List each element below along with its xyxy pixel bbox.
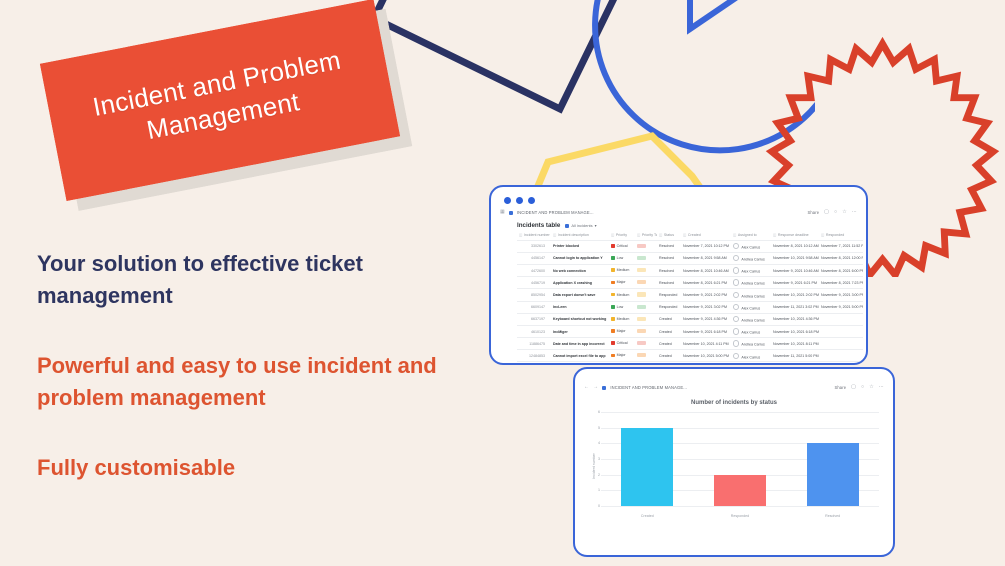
blue-pie-shape xyxy=(565,0,815,154)
cell-incident-number: 3302613 xyxy=(517,240,551,252)
cell-incident-number: 4456719 xyxy=(517,277,551,289)
cell-deadline: November 9, 2021 6:21 PM xyxy=(771,277,819,289)
new-row-button[interactable]: + New xyxy=(517,364,866,365)
y-axis-tick: 1 xyxy=(598,488,600,492)
window-controls xyxy=(504,197,535,204)
cell-created: November 9, 2021 4:36 PM xyxy=(681,313,731,325)
y-axis-tick: 2 xyxy=(598,473,600,477)
star-icon[interactable]: ☆ xyxy=(842,210,847,215)
bar-column xyxy=(714,412,766,506)
star-icon[interactable]: ☆ xyxy=(869,385,874,390)
window-dot xyxy=(504,197,511,204)
cell-created: November 10, 2021 4:11 PM xyxy=(681,338,731,350)
cell-assignee: Andrea Carrus xyxy=(731,252,771,264)
column-type-icon: ◫ xyxy=(659,233,662,237)
cell-responded xyxy=(819,350,863,362)
avatar xyxy=(733,353,739,359)
cell-description: No web connection xyxy=(551,264,609,276)
cell-priority: Major xyxy=(609,350,635,362)
incidents-table: ◫Incident number◫Incident description◫Pr… xyxy=(517,231,863,362)
incidents-chart-window[interactable]: ← → INCIDENT AND PROBLEM MANAGE... Share… xyxy=(573,367,895,557)
table-column-header[interactable]: ◫Response deadline xyxy=(771,231,819,240)
cell-status: Resolved xyxy=(657,264,681,276)
cell-status: Created xyxy=(657,313,681,325)
cell-description: Keyboard shortcut not working xyxy=(551,313,609,325)
table-heading-row: Incidents table All incidents ▾ xyxy=(491,219,866,231)
ticket-body: Incident and Problem Management xyxy=(40,0,400,201)
table-row[interactable]: 8502954Data export doesn't saveMediumRes… xyxy=(517,289,863,301)
cell-responded: November 8, 2021 12:00 PM xyxy=(819,252,863,264)
cell-assignee: Andrea Carrus xyxy=(731,289,771,301)
chart-title: Number of incidents by status xyxy=(575,400,893,406)
table-row[interactable]: 4456147Cannot login to application YLowR… xyxy=(517,252,863,264)
table-column-header[interactable]: ◫Created xyxy=(681,231,731,240)
avatar xyxy=(733,292,739,298)
cell-assignee: Alex Carrus xyxy=(731,350,771,362)
cell-assignee: Andrea Carrus xyxy=(731,277,771,289)
cell-created: November 9, 2021 2:02 PM xyxy=(681,289,731,301)
cell-status: Created xyxy=(657,350,681,362)
x-axis-tick-label: Created xyxy=(621,514,673,518)
bar[interactable] xyxy=(621,428,673,506)
table-column-header[interactable]: ◫Priority xyxy=(609,231,635,240)
chart-appbar: ← → INCIDENT AND PROBLEM MANAGE... Share… xyxy=(575,381,893,394)
table-column-header[interactable]: ◫Assigned to xyxy=(731,231,771,240)
cell-deadline: November 10, 2021 9:58 AM xyxy=(771,252,819,264)
cell-description: Data export doesn't save xyxy=(551,289,609,301)
bar-column xyxy=(621,412,673,506)
avatar xyxy=(733,340,739,346)
cell-priority-tag xyxy=(635,325,657,337)
cell-assignee: Alex Carrus xyxy=(731,264,771,276)
comment-icon[interactable]: ▢ xyxy=(851,385,856,390)
cell-priority: Major xyxy=(609,325,635,337)
cell-assignee: Alex Carrus xyxy=(731,240,771,252)
cell-assignee: Alex Carrus xyxy=(731,301,771,313)
table-row[interactable]: 3302613Printer blockedCriticalResolvedNo… xyxy=(517,240,863,252)
column-type-icon: ◫ xyxy=(611,233,614,237)
y-axis-tick: 4 xyxy=(598,441,600,445)
incidents-table-window[interactable]: ▦ INCIDENT AND PROBLEM MANAGE... Share ▢… xyxy=(489,185,868,365)
cell-description: Cannot login to application Y xyxy=(551,252,609,264)
cell-status: Resolved xyxy=(657,277,681,289)
cell-status: Resolved xyxy=(657,252,681,264)
cell-priority-tag xyxy=(635,301,657,313)
window-dot xyxy=(516,197,523,204)
chart-app-title: INCIDENT AND PROBLEM MANAGE... xyxy=(610,385,687,390)
cell-deadline: November 10, 2021 8:11 PM xyxy=(771,338,819,350)
column-type-icon: ◫ xyxy=(553,233,556,237)
cell-incident-number: 11886475 xyxy=(517,338,551,350)
y-axis-tick: 0 xyxy=(598,504,600,508)
cell-responded: November 8, 2021 7:23 PM xyxy=(819,277,863,289)
cell-priority: Medium xyxy=(609,289,635,301)
avatar xyxy=(733,243,739,249)
cell-responded xyxy=(819,338,863,350)
cell-assignee: Alex Carrus xyxy=(731,325,771,337)
cell-priority-tag xyxy=(635,277,657,289)
ticket-label: Incident and Problem Management xyxy=(47,35,393,165)
cell-status: Responded xyxy=(657,289,681,301)
cell-priority-tag xyxy=(635,264,657,276)
cell-deadline: November 10, 2021 2:02 PM xyxy=(771,289,819,301)
avatar xyxy=(733,255,739,261)
cell-priority: Critical xyxy=(609,338,635,350)
cell-deadline: November 11, 2021 3:02 PM xyxy=(771,301,819,313)
comment-icon[interactable]: ▢ xyxy=(824,210,829,215)
cell-responded: November 9, 2021 5:00 PM xyxy=(819,301,863,313)
bar-column xyxy=(807,412,859,506)
avatar xyxy=(733,304,739,310)
table-row[interactable]: 4472600No web connectionMediumResolvedNo… xyxy=(517,264,863,276)
cell-deadline: November 10, 2021 4:36 PM xyxy=(771,313,819,325)
table-column-header[interactable]: ◫Priority Tag xyxy=(635,231,657,240)
cell-incident-number: 12484853 xyxy=(517,350,551,362)
arrow-right-icon[interactable]: → xyxy=(593,385,598,390)
table-appbar: ▦ INCIDENT AND PROBLEM MANAGE... Share ▢… xyxy=(491,206,866,219)
cell-description: Application X crashing xyxy=(551,277,609,289)
cell-created: November 7, 2021 10:12 PM xyxy=(681,240,731,252)
cell-deadline: November 8, 2021 10:12 AM xyxy=(771,240,819,252)
table-column-header[interactable]: ◫Status xyxy=(657,231,681,240)
cell-priority-tag xyxy=(635,313,657,325)
cell-incident-number: 4456147 xyxy=(517,252,551,264)
cell-responded xyxy=(819,313,863,325)
cell-status: Responded xyxy=(657,301,681,313)
column-type-icon: ◫ xyxy=(773,233,776,237)
history-icon[interactable]: ○ xyxy=(834,210,837,215)
cell-incident-number: 6609147 xyxy=(517,301,551,313)
cell-responded: November 8, 2021 6:00 PM xyxy=(819,264,863,276)
cell-responded xyxy=(819,325,863,337)
cell-priority: Medium xyxy=(609,313,635,325)
cell-description: Date and time in app incorrect xyxy=(551,338,609,350)
table-title: Incidents table xyxy=(517,222,560,229)
cell-created: November 9, 2021 6:18 PM xyxy=(681,325,731,337)
y-axis-tick: 6 xyxy=(598,410,600,414)
gridline xyxy=(601,506,879,507)
column-type-icon: ◫ xyxy=(733,233,736,237)
x-axis-tick-label: Resolved xyxy=(807,514,859,518)
cell-priority: Major xyxy=(609,277,635,289)
arrow-left-icon[interactable]: ← xyxy=(584,385,589,390)
cell-status: Created xyxy=(657,338,681,350)
column-type-icon: ◫ xyxy=(637,233,640,237)
cell-priority: Medium xyxy=(609,264,635,276)
chart-plot-area: Incident number 0123456 CreatedResponded… xyxy=(601,412,879,520)
table-body: 3302613Printer blockedCriticalResolvedNo… xyxy=(517,240,863,362)
cell-incident-number: 4472600 xyxy=(517,264,551,276)
cell-deadline: November 9, 2021 10:46 AM xyxy=(771,264,819,276)
table-app-title: INCIDENT AND PROBLEM MANAGE... xyxy=(517,210,594,215)
view-label: All incidents xyxy=(571,223,592,228)
chart-bars xyxy=(601,412,879,506)
cell-assignee: Andrea Carrus xyxy=(731,338,771,350)
cell-created: November 8, 2021 10:46 AM xyxy=(681,264,731,276)
x-axis-tick-label: Responded xyxy=(714,514,766,518)
cell-priority-tag xyxy=(635,350,657,362)
cell-created: November 8, 2021 9:58 AM xyxy=(681,252,731,264)
cell-incident-number: 4610123 xyxy=(517,325,551,337)
view-icon xyxy=(565,224,569,228)
table-row[interactable]: 4456719Application X crashingMajorResolv… xyxy=(517,277,863,289)
share-button[interactable]: Share xyxy=(807,210,819,215)
table-header-row: ◫Incident number◫Incident description◫Pr… xyxy=(517,231,863,240)
cell-description: IncLeen xyxy=(551,301,609,313)
more-icon[interactable]: ⋯ xyxy=(879,385,884,390)
cell-priority-tag xyxy=(635,289,657,301)
cell-description: IncMiger xyxy=(551,325,609,337)
headline-block: Your solution to effective ticket manage… xyxy=(37,248,467,483)
chart-x-axis: CreatedRespondedResolved xyxy=(601,514,879,518)
navy-rectangle-shape xyxy=(369,0,624,114)
cell-description: Cannot import excel file to app xyxy=(551,350,609,362)
cell-created: November 9, 2021 3:02 PM xyxy=(681,301,731,313)
grid-icon[interactable]: ▦ xyxy=(500,210,505,215)
history-icon[interactable]: ○ xyxy=(861,385,864,390)
column-type-icon: ◫ xyxy=(683,233,686,237)
y-axis-tick: 5 xyxy=(598,426,600,430)
avatar xyxy=(733,316,739,322)
avatar xyxy=(733,279,739,285)
ticket-graphic: Incident and Problem Management xyxy=(40,0,400,201)
cell-responded: November 9, 2021 3:00 PM xyxy=(819,289,863,301)
cell-deadline: November 11, 2021 5:00 PM xyxy=(771,350,819,362)
headline-primary: Your solution to effective ticket manage… xyxy=(37,248,467,312)
avatar xyxy=(733,328,739,334)
cell-assignee: Andrea Carrus xyxy=(731,313,771,325)
cell-priority-tag xyxy=(635,252,657,264)
table-row[interactable]: 6637197Keyboard shortcut not workingMedi… xyxy=(517,313,863,325)
blue-square-icon xyxy=(509,211,513,215)
share-button[interactable]: Share xyxy=(834,385,846,390)
column-type-icon: ◫ xyxy=(519,233,522,237)
headline-tertiary: Fully customisable xyxy=(37,452,467,484)
avatar xyxy=(733,267,739,273)
bar[interactable] xyxy=(807,443,859,506)
cell-priority: Low xyxy=(609,301,635,313)
cell-created: November 10, 2021 5:00 PM xyxy=(681,350,731,362)
cell-priority: Critical xyxy=(609,240,635,252)
y-axis-tick: 3 xyxy=(598,457,600,461)
bar[interactable] xyxy=(714,475,766,506)
cell-deadline: November 10, 2021 6:18 PM xyxy=(771,325,819,337)
cell-description: Printer blocked xyxy=(551,240,609,252)
table-row[interactable]: 11886475Date and time in app incorrectCr… xyxy=(517,338,863,350)
cell-incident-number: 8502954 xyxy=(517,289,551,301)
table-row[interactable]: 6609147IncLeenLowRespondedNovember 9, 20… xyxy=(517,301,863,313)
cell-incident-number: 6637197 xyxy=(517,313,551,325)
window-dot xyxy=(528,197,535,204)
headline-secondary: Powerful and easy to use incident and pr… xyxy=(37,350,467,414)
table-column-header[interactable]: ◫Incident description xyxy=(551,231,609,240)
cell-priority-tag xyxy=(635,338,657,350)
cell-created: November 8, 2021 6:21 PM xyxy=(681,277,731,289)
cell-responded: November 7, 2021 11:52 PM xyxy=(819,240,863,252)
view-selector[interactable]: All incidents ▾ xyxy=(565,223,596,228)
column-type-icon: ◫ xyxy=(821,233,824,237)
cell-priority: Low xyxy=(609,252,635,264)
chart-y-axis: 0123456 xyxy=(592,412,601,506)
table-column-header[interactable]: ◫Responded xyxy=(819,231,863,240)
table-row[interactable]: 4610123IncMigerMajorCreatedNovember 9, 2… xyxy=(517,325,863,337)
cell-priority-tag xyxy=(635,240,657,252)
table-row[interactable]: 12484853Cannot import excel file to appM… xyxy=(517,350,863,362)
slide-canvas: Incident and Problem Management Your sol… xyxy=(0,0,1005,566)
blue-square-icon xyxy=(602,386,606,390)
cell-status: Created xyxy=(657,325,681,337)
cell-status: Resolved xyxy=(657,240,681,252)
table-column-header[interactable]: ◫Incident number xyxy=(517,231,551,240)
chevron-down-icon: ▾ xyxy=(595,223,597,228)
more-icon[interactable]: ⋯ xyxy=(852,210,857,215)
